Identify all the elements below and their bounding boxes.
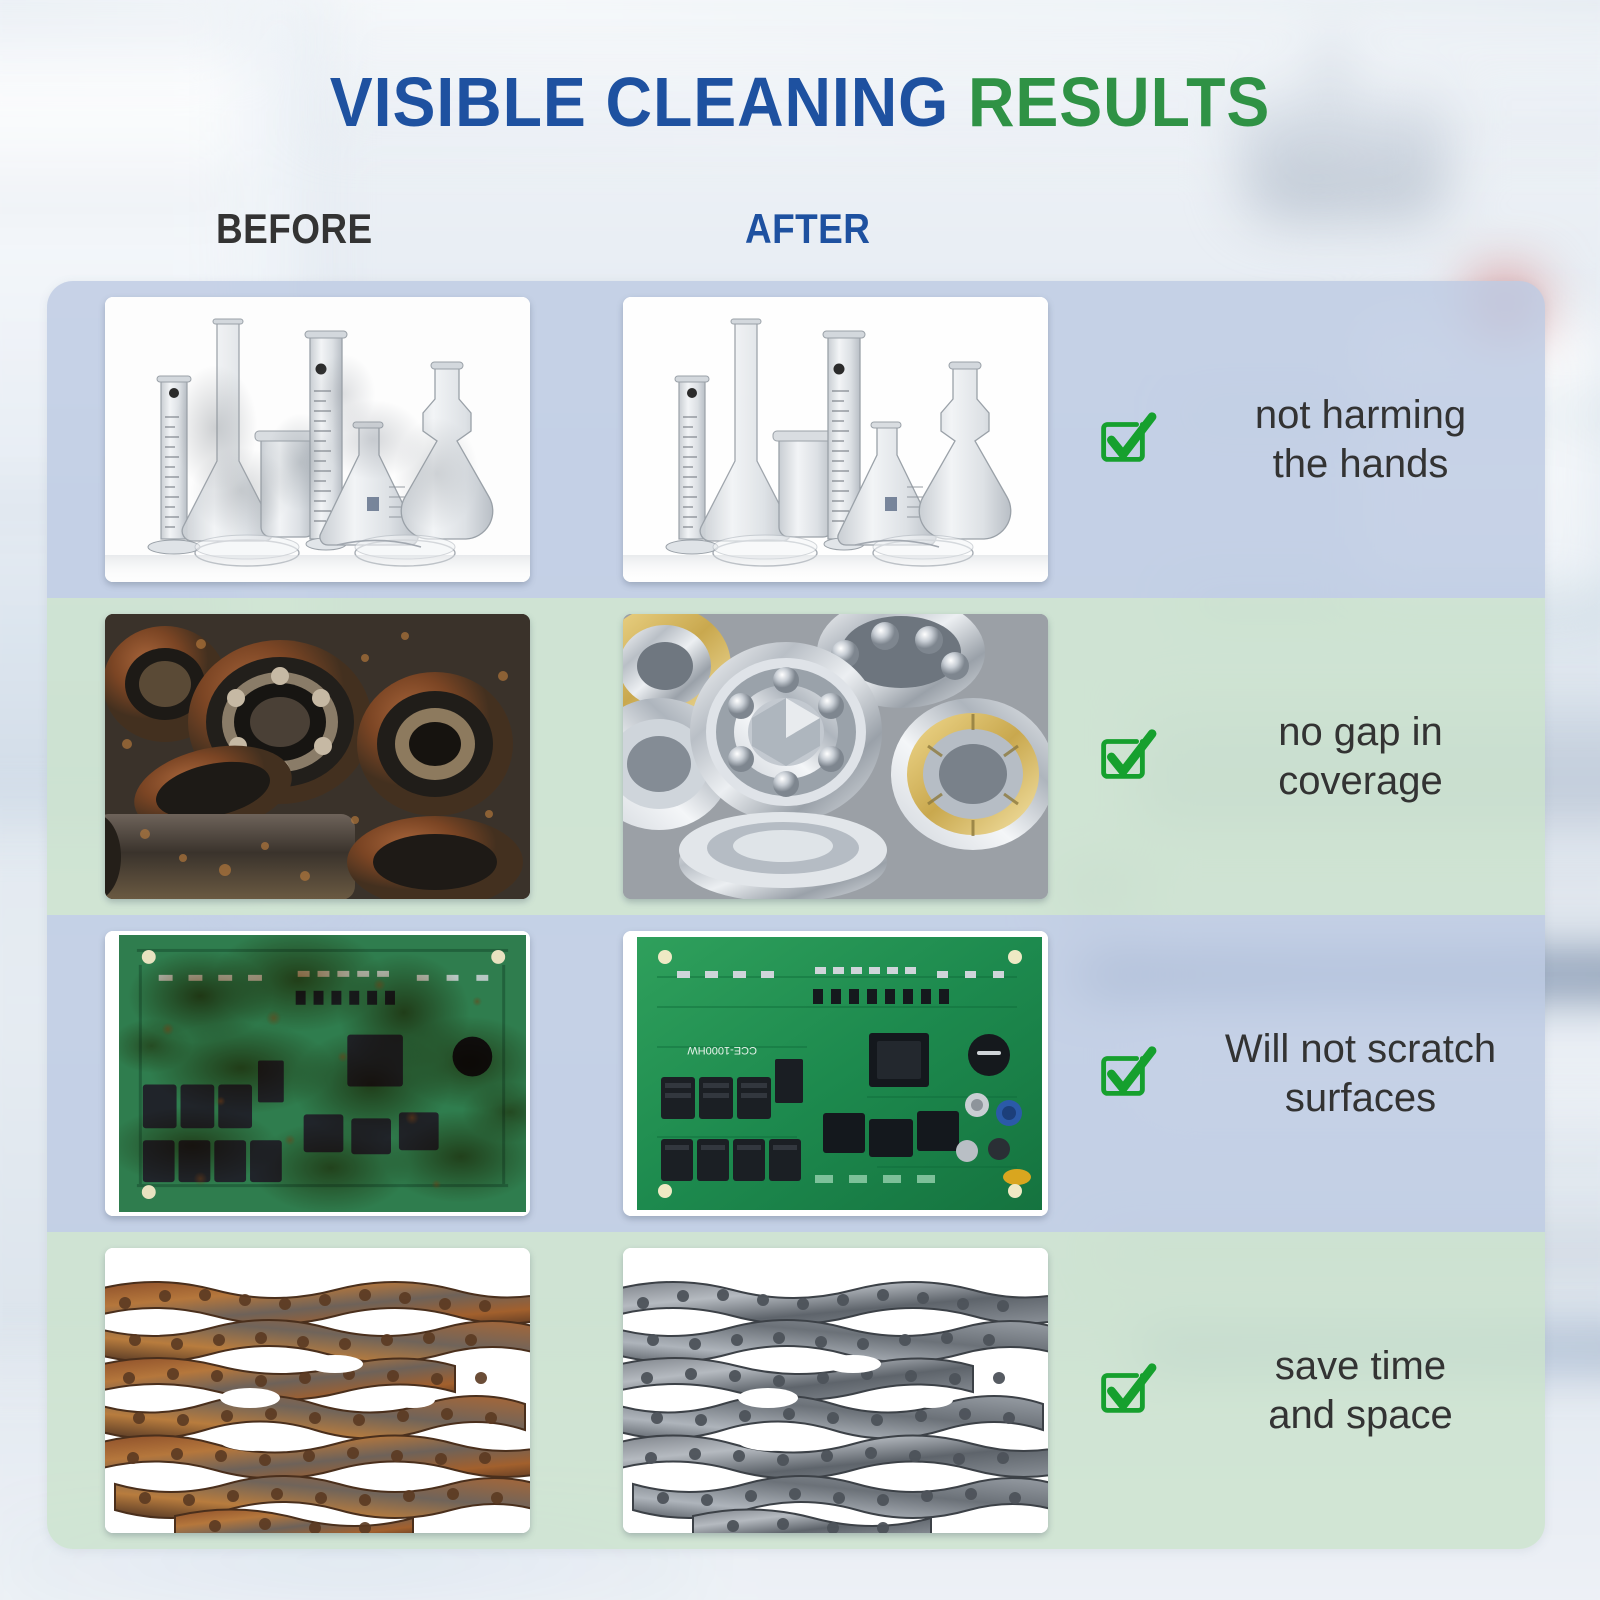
feature-item: save time and space — [1092, 1232, 1537, 1549]
feature-line-2: and space — [1268, 1393, 1453, 1437]
before-photo-glassware — [105, 297, 530, 582]
before-photo-chain — [105, 1248, 530, 1533]
feature-line-2: the hands — [1273, 442, 1449, 486]
feature-text: Will not scratch surfaces — [1184, 1025, 1537, 1123]
green-check-box-icon — [1092, 1360, 1154, 1422]
page-title: VISIBLE CLEANING RESULTS — [64, 62, 1536, 142]
page-title-green: RESULTS — [968, 63, 1270, 141]
green-check-box-icon — [1092, 726, 1154, 788]
feature-line-1: no gap in — [1278, 710, 1443, 754]
after-photo-chain — [623, 1248, 1048, 1533]
feature-line-1: save time — [1275, 1344, 1446, 1388]
feature-line-2: surfaces — [1285, 1076, 1436, 1120]
comparison-row: not harming the hands — [47, 281, 1545, 598]
feature-line-1: not harming — [1255, 393, 1466, 437]
feature-text: save time and space — [1184, 1342, 1537, 1440]
green-check-box-icon — [1092, 409, 1154, 471]
feature-item: no gap in coverage — [1092, 598, 1537, 915]
after-photo-pcb: CCE-1000HW — [623, 931, 1048, 1216]
comparison-row: save time and space — [47, 1232, 1545, 1549]
before-photo-pcb — [105, 931, 530, 1216]
column-header-before: BEFORE — [216, 205, 373, 253]
before-photo-bearings — [105, 614, 530, 899]
feature-text: no gap in coverage — [1184, 708, 1537, 806]
feature-item: Will not scratch surfaces — [1092, 915, 1537, 1232]
feature-item: not harming the hands — [1092, 281, 1537, 598]
comparison-row: no gap in coverage — [47, 598, 1545, 915]
after-photo-glassware — [623, 297, 1048, 582]
pcb-silkscreen-text: CCE-1000HW — [687, 1044, 757, 1056]
comparison-board: not harming the hands — [47, 281, 1545, 1549]
after-photo-bearings — [623, 614, 1048, 899]
feature-line-2: coverage — [1278, 759, 1443, 803]
page-title-blue: VISIBLE CLEANING — [330, 63, 949, 141]
feature-line-1: Will not scratch — [1225, 1027, 1496, 1071]
green-check-box-icon — [1092, 1043, 1154, 1105]
comparison-row: CCE-1000HW — [47, 915, 1545, 1232]
feature-text: not harming the hands — [1184, 391, 1537, 489]
column-header-after: AFTER — [745, 205, 870, 253]
